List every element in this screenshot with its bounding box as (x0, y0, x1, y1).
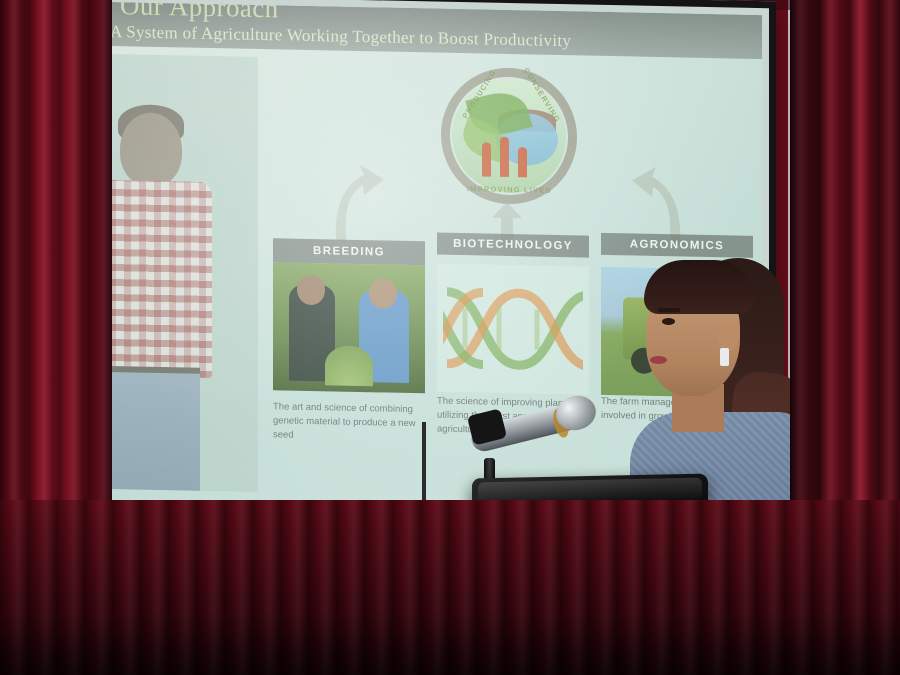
slide-panel-breeding: BREEDING The art and science of combinin… (273, 238, 425, 444)
emblem-word-improving-lives: IMPROVING LIVES (467, 184, 552, 195)
presenter-hair-top (644, 260, 754, 314)
farmer-jeans (108, 372, 200, 492)
emblem-core (452, 78, 566, 194)
emblem-person-1 (482, 142, 491, 176)
emblem-people-figures (478, 134, 540, 177)
panel-heading-biotechnology: BIOTECHNOLOGY (437, 233, 589, 258)
stage-curtain-bottom (0, 500, 900, 675)
slide-title: Our Approach (120, 1, 279, 24)
sustainability-emblem-logo: PRODUCING CONSERVING IMPROVING LIVES (441, 67, 577, 206)
presenter-eyebrow (658, 308, 680, 312)
photograph-scene: Our Approach A System of Agriculture Wor… (0, 0, 900, 675)
biotechnology-graphic (437, 264, 589, 395)
breeding-researcher-1-head (297, 275, 325, 306)
panel-caption-breeding: The art and science of combining genetic… (273, 400, 425, 444)
emblem-person-2 (500, 137, 509, 177)
panel-heading-breeding: BREEDING (273, 238, 425, 265)
curved-arrow-left-icon (330, 158, 388, 243)
presenter-eye (662, 318, 675, 325)
presenter-earring (720, 348, 729, 366)
breeding-photo (273, 262, 425, 393)
breeding-researcher-2-head (369, 278, 397, 309)
emblem-person-3 (518, 147, 527, 177)
presenter-lips (650, 356, 667, 364)
breeding-plant-sample (325, 345, 373, 386)
farmer-head (120, 112, 182, 187)
dna-helix-icon (443, 284, 583, 375)
